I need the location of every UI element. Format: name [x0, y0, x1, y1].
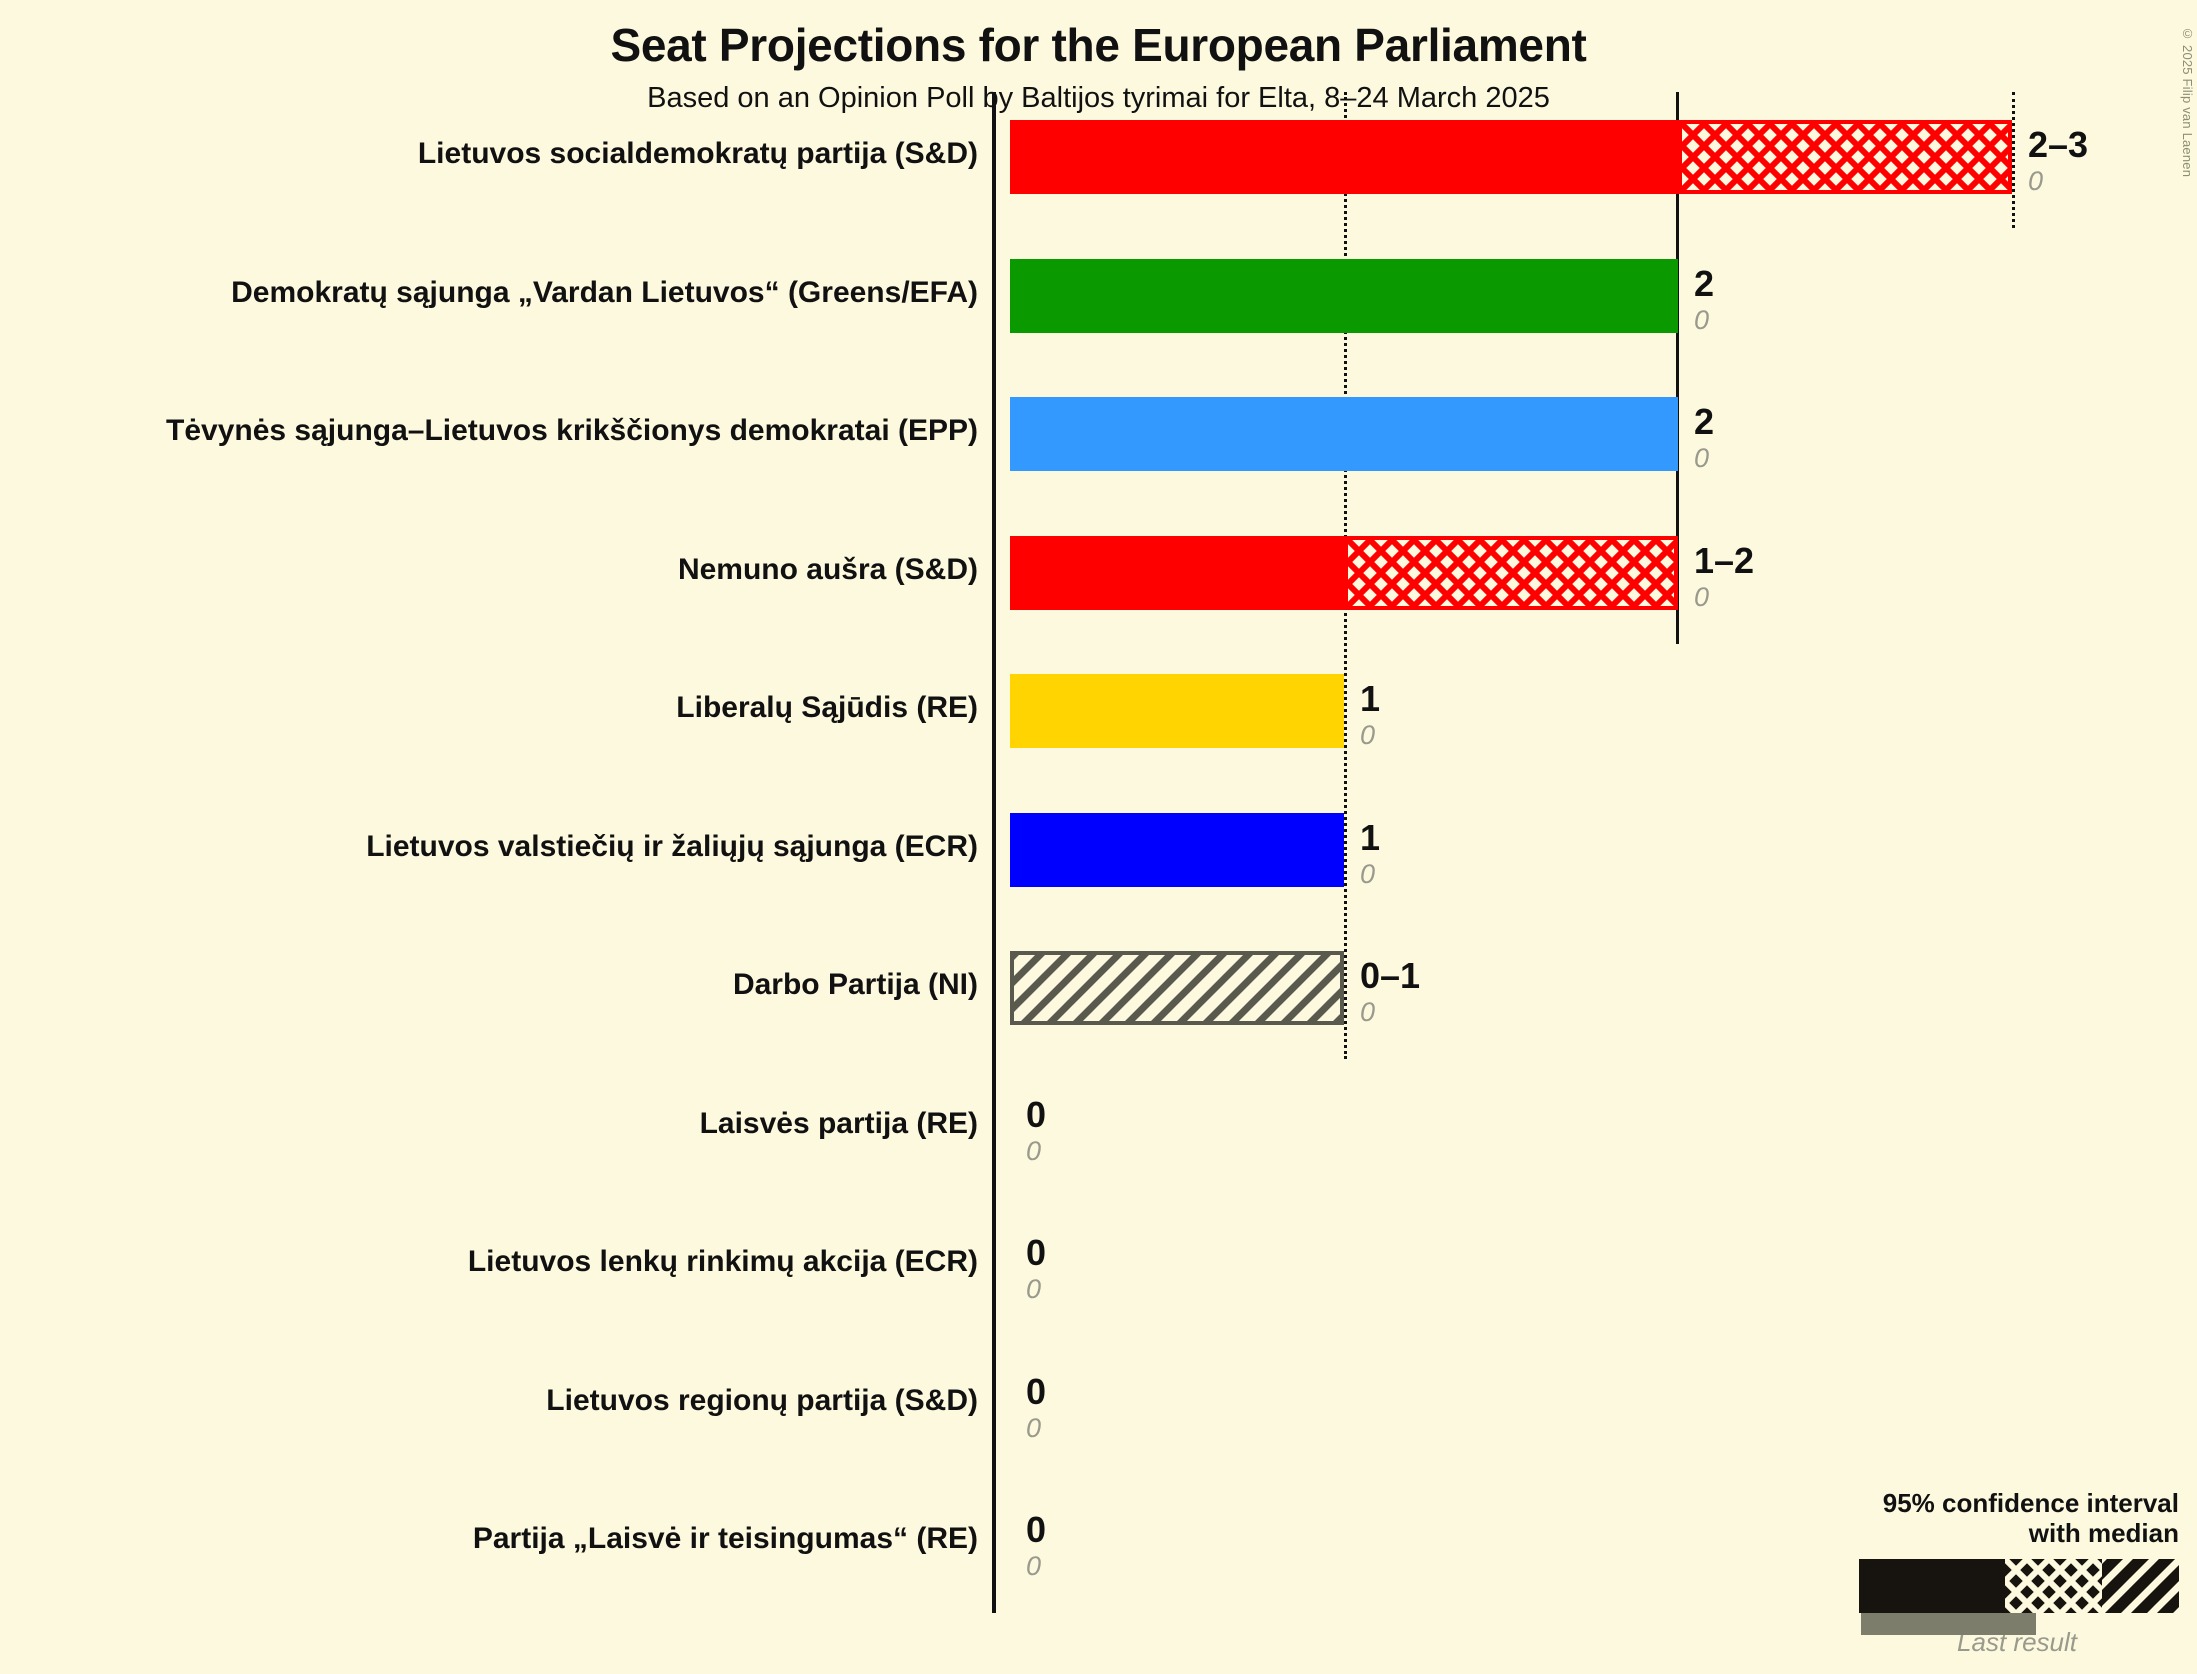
bar-confidence-segment [1344, 536, 1678, 610]
legend-caption: 95% confidence interval with median [1799, 1488, 2179, 1549]
seat-value-label: 2 [1694, 263, 1714, 305]
party-label: Laisvės partija (RE) [0, 1107, 992, 1141]
chart-row: Lietuvos valstiečių ir žaliųjų sąjunga (… [0, 813, 2197, 887]
seat-value-label: 1 [1360, 678, 1380, 720]
party-label: Lietuvos valstiečių ir žaliųjų sąjunga (… [0, 830, 992, 864]
last-result-value-label: 0 [1360, 997, 1375, 1028]
legend-caption-line1: 95% confidence interval [1799, 1488, 2179, 1519]
legend-diagonal-swatch [2102, 1559, 2179, 1613]
party-label: Lietuvos lenkų rinkimų akcija (ECR) [0, 1245, 992, 1279]
bar-median-segment [1010, 536, 1344, 610]
last-result-value-label: 0 [1694, 443, 1709, 474]
last-result-value-label: 0 [1026, 1136, 1041, 1167]
party-label: Nemuno aušra (S&D) [0, 553, 992, 587]
seat-value-label: 0–1 [1360, 955, 1420, 997]
party-label: Lietuvos regionų partija (S&D) [0, 1384, 992, 1418]
chart-row: Laisvės partija (RE)00 [0, 1090, 2197, 1164]
seat-value-label: 0 [1026, 1371, 1046, 1413]
party-label: Lietuvos socialdemokratų partija (S&D) [0, 137, 992, 171]
bar-confidence-segment [1678, 120, 2012, 194]
last-result-value-label: 0 [1360, 859, 1375, 890]
bar-median-segment [1010, 674, 1344, 748]
last-result-value-label: 0 [1026, 1274, 1041, 1305]
chart-row: Lietuvos lenkų rinkimų akcija (ECR)00 [0, 1228, 2197, 1302]
legend-caption-line2: with median [1799, 1518, 2179, 1549]
party-label: Liberalų Sąjūdis (RE) [0, 691, 992, 725]
party-label: Demokratų sąjunga „Vardan Lietuvos“ (Gre… [0, 276, 992, 310]
chart-row: Demokratų sąjunga „Vardan Lietuvos“ (Gre… [0, 259, 2197, 333]
chart-row: Lietuvos socialdemokratų partija (S&D)2–… [0, 120, 2197, 194]
seat-value-label: 2 [1694, 401, 1714, 443]
last-result-value-label: 0 [2028, 166, 2043, 197]
bar-median-segment [1010, 813, 1344, 887]
seat-value-label: 1–2 [1694, 540, 1754, 582]
chart-row: Lietuvos regionų partija (S&D)00 [0, 1367, 2197, 1441]
party-label: Partija „Laisvė ir teisingumas“ (RE) [0, 1522, 992, 1556]
party-label: Tėvynės sąjunga–Lietuvos krikščionys dem… [0, 414, 992, 448]
bar-median-segment [1010, 259, 1678, 333]
chart-row: Tėvynės sąjunga–Lietuvos krikščionys dem… [0, 397, 2197, 471]
party-label: Darbo Partija (NI) [0, 968, 992, 1002]
chart-row: Liberalų Sąjūdis (RE)10 [0, 674, 2197, 748]
last-result-value-label: 0 [1694, 305, 1709, 336]
chart-row: Nemuno aušra (S&D)1–20 [0, 536, 2197, 610]
last-result-value-label: 0 [1026, 1551, 1041, 1582]
last-result-value-label: 0 [1026, 1413, 1041, 1444]
seat-value-label: 1 [1360, 817, 1380, 859]
plot-area: Lietuvos socialdemokratų partija (S&D)2–… [0, 0, 2197, 1674]
seat-value-label: 0 [1026, 1094, 1046, 1136]
legend-crosshatch-swatch [2005, 1559, 2102, 1613]
bar-median-segment [1010, 120, 1678, 194]
chart-legend: 95% confidence interval with median Last… [1799, 1488, 2179, 1658]
seat-value-label: 0 [1026, 1509, 1046, 1551]
seat-value-label: 0 [1026, 1232, 1046, 1274]
chart-row: Darbo Partija (NI)0–10 [0, 951, 2197, 1025]
legend-median-swatch [1859, 1559, 2005, 1613]
seat-value-label: 2–3 [2028, 124, 2088, 166]
chart-canvas: Seat Projections for the European Parlia… [0, 0, 2197, 1674]
last-result-value-label: 0 [1694, 582, 1709, 613]
bar-confidence-segment [1010, 951, 1344, 1025]
last-result-value-label: 0 [1360, 720, 1375, 751]
legend-swatch [1799, 1559, 2179, 1621]
bar-median-segment [1010, 397, 1678, 471]
legend-last-result-swatch [1861, 1613, 2036, 1635]
